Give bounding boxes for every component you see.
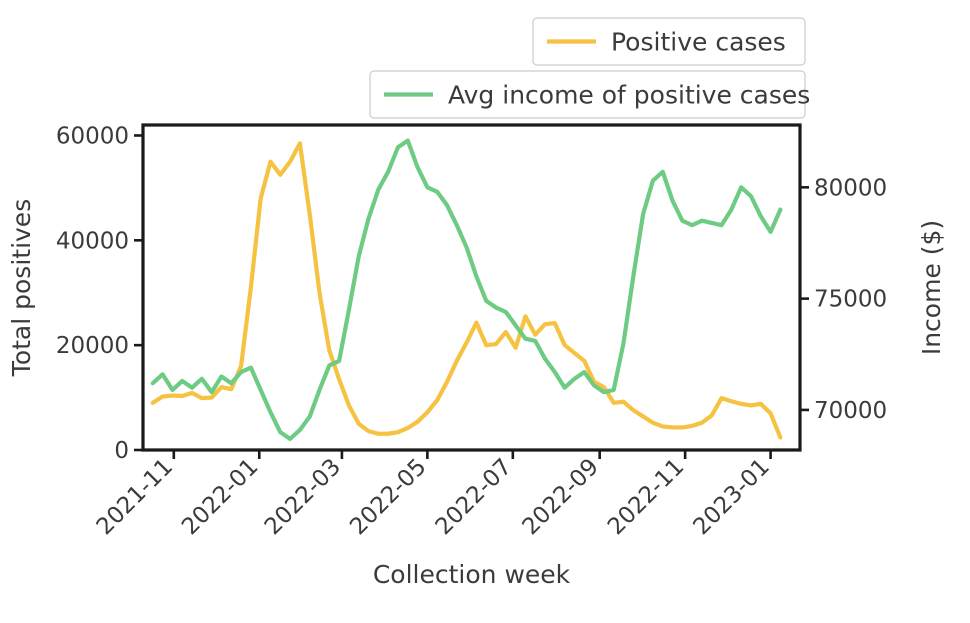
legend-label-2: Avg income of positive cases [448, 81, 810, 110]
dual-axis-line-chart: 2021-112022-012022-032022-052022-072022-… [0, 0, 970, 623]
plot-area: 2021-112022-012022-032022-052022-072022-… [7, 18, 946, 589]
x-tick-label: 2022-01 [177, 454, 263, 540]
legend-label-1: Positive cases [611, 28, 786, 57]
series-line-1 [153, 143, 781, 437]
y-left-tick-label: 60000 [56, 123, 129, 149]
x-tick-label: 2022-03 [260, 454, 346, 540]
y-left-tick-label: 0 [114, 438, 129, 464]
y-right-tick-label: 70000 [814, 398, 887, 424]
x-axis-title: Collection week [373, 560, 571, 589]
x-tick-label: 2022-05 [345, 454, 431, 540]
x-tick-label: 2022-09 [518, 454, 604, 540]
x-tick-label: 2022-11 [603, 454, 689, 540]
series-line-2 [153, 141, 781, 439]
y-right-tick-label: 75000 [814, 287, 887, 313]
axis-frame [143, 125, 800, 450]
y-right-tick-label: 80000 [814, 175, 887, 201]
y-left-tick-label: 20000 [56, 333, 129, 359]
y-right-axis-title: Income ($) [917, 220, 946, 355]
y-left-tick-label: 40000 [56, 228, 129, 254]
y-left-axis-title: Total positives [7, 199, 36, 377]
x-tick-label: 2023-01 [688, 454, 774, 540]
chart-figure: 2021-112022-012022-032022-052022-072022-… [0, 0, 970, 623]
x-tick-label: 2021-11 [92, 454, 178, 540]
x-tick-label: 2022-07 [431, 454, 517, 540]
